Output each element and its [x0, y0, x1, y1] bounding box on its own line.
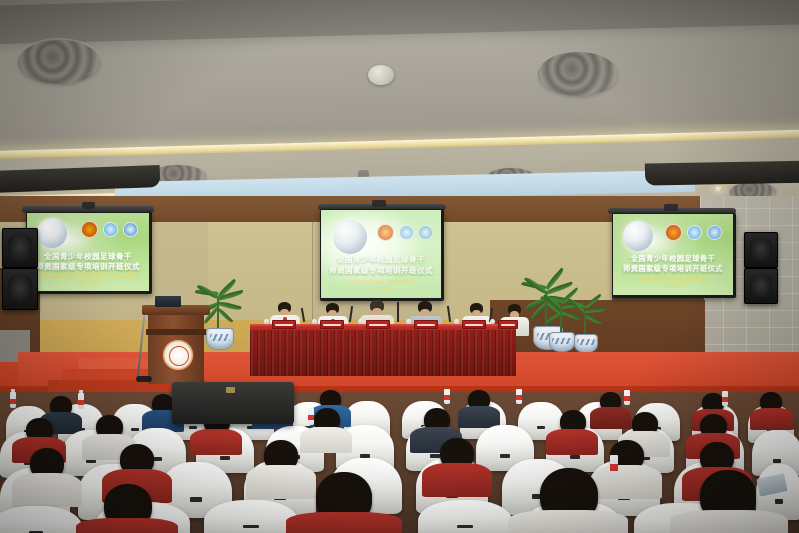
- organization-badge-icon: [687, 225, 702, 240]
- water-bottle: [308, 408, 314, 425]
- water-bottle: [722, 391, 728, 406]
- water-bottle-cap: [79, 390, 83, 393]
- name-card: [320, 320, 344, 329]
- potted-plant-right-b: [566, 300, 606, 354]
- right-projection-screen: 全国青少年校园足球骨干 师资国家级专项培训开班仪式 主办单位：教育部 承办单位：…: [612, 213, 736, 298]
- ceiling-dome-detector-icon: [368, 65, 394, 85]
- organization-badge-icon: [399, 225, 414, 240]
- right-screen-subtitle-line2: 二〇一八年七月: [613, 283, 733, 288]
- equipment-case: [172, 382, 294, 424]
- head-table-cloth: [250, 330, 516, 376]
- table-microphone-icon: [397, 302, 399, 322]
- right-screen-mount-icon: [664, 204, 678, 211]
- left-screen-title-line2: 师资国家级专项培训开班仪式: [27, 261, 149, 272]
- cable-coil: [136, 376, 152, 382]
- water-bottle: [624, 390, 630, 405]
- right-screen-subtitle-line1: 主办单位：教育部 承办单位：中国教育科学研究院: [613, 276, 733, 281]
- name-card: [366, 320, 390, 329]
- center-screen-mount-icon: [372, 200, 386, 207]
- left-screen-subtitle-line2: 二〇一八年七月: [27, 280, 149, 285]
- ceiling-soffit-right: [645, 160, 799, 185]
- wall-speaker: [744, 268, 778, 304]
- left-screen-subtitle-line1: 主办单位：教育部 承办单位：中国教育科学研究院 协办单位：体育学院: [27, 273, 149, 278]
- football-logo-icon: [333, 220, 367, 254]
- football-logo-icon: [623, 221, 653, 251]
- water-bottle: [444, 389, 450, 404]
- wall-speaker: [2, 228, 38, 268]
- water-bottle: [610, 455, 618, 477]
- football-logo-icon: [37, 218, 67, 248]
- tea-cup: [264, 319, 269, 324]
- water-bottle: [516, 389, 522, 404]
- name-card: [498, 320, 518, 329]
- name-card: [414, 320, 438, 329]
- tea-cup: [406, 319, 411, 324]
- wall-speaker: [2, 268, 38, 310]
- center-screen-subtitle-line1: 主办单位：教育部 承办单位：中国教育科学研究院: [321, 279, 441, 284]
- name-card: [462, 320, 486, 329]
- podium-emblem-icon: [162, 339, 194, 371]
- wall-speaker: [744, 232, 778, 268]
- ceiling-air-vent-icon: [538, 52, 618, 96]
- head-table-items: [250, 318, 516, 328]
- organization-badge-icon: [103, 222, 118, 237]
- organization-badge-icon: [665, 224, 682, 241]
- water-bottle-cap: [11, 389, 15, 392]
- water-bottle: [10, 392, 16, 408]
- name-card: [272, 320, 296, 329]
- organization-badge-icon: [123, 222, 138, 237]
- right-screen-title-line2: 师资国家级专项培训开班仪式: [613, 264, 733, 274]
- left-screen-mount-icon: [82, 202, 95, 209]
- tea-cup: [454, 319, 459, 324]
- center-screen-title-line1: 全国青少年校园足球骨干: [321, 254, 441, 265]
- podium-shelf: [146, 329, 206, 335]
- water-bottle: [78, 393, 84, 409]
- organization-badge-icon: [377, 224, 394, 241]
- ceiling-air-vent-icon: [18, 40, 100, 84]
- center-projection-screen: 全国青少年校园足球骨干 师资国家级专项培训开班仪式 主办单位：教育部 承办单位：…: [320, 209, 444, 301]
- podium-laptop-icon: [155, 296, 181, 307]
- left-projection-screen: 全国青少年校园足球骨干 师资国家级专项培训开班仪式 主办单位：教育部 承办单位：…: [26, 212, 152, 294]
- center-screen-subtitle-line2: 二〇一八年七月: [321, 286, 441, 291]
- center-screen-title-line2: 师资国家级专项培训开班仪式: [321, 265, 441, 276]
- conference-hall-photo: 全国青少年校园足球骨干 师资国家级专项培训开班仪式 主办单位：教育部 承办单位：…: [0, 0, 799, 533]
- organization-badge-icon: [81, 221, 98, 238]
- right-screen-title-line1: 全国青少年校园足球骨干: [613, 254, 733, 264]
- tea-cup: [358, 319, 363, 324]
- ceiling-downlight-icon: [714, 186, 723, 192]
- organization-badge-icon: [707, 225, 722, 240]
- tea-cup: [312, 319, 317, 324]
- tea-cup: [490, 319, 495, 324]
- organization-badge-icon: [418, 225, 433, 240]
